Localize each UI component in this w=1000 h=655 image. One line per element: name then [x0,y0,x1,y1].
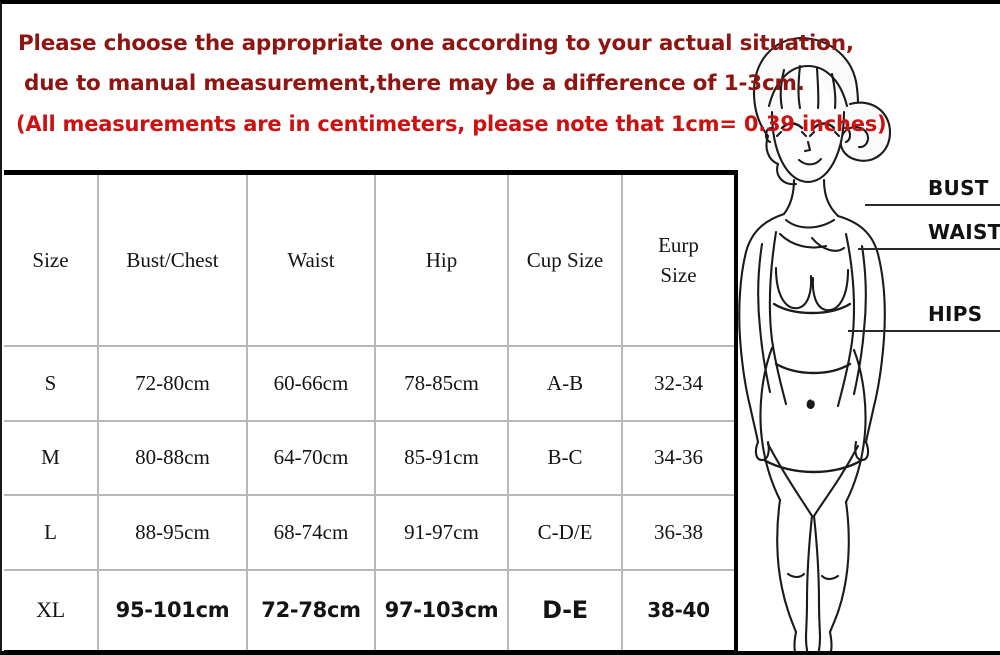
cell-cup: C-D/E [508,495,622,570]
header-eurp-line1: Eurp [623,230,734,260]
cell-eurp: 38-40 [622,570,734,650]
cell-bust: 95-101cm [98,570,247,650]
header-size: Size [4,175,98,346]
cell-size: S [4,346,98,421]
cell-hip: 85-91cm [375,421,508,496]
table-header-row: Size Bust/Chest Waist Hip Cup Size Eurp … [4,175,734,346]
cell-cup: D-E [508,570,622,650]
header-eurp-size: Eurp Size [622,175,734,346]
header-cup: Cup Size [508,175,622,346]
cell-waist: 64-70cm [247,421,375,496]
notice-line-1: Please choose the appropriate one accord… [14,24,862,64]
table-row: M 80-88cm 64-70cm 85-91cm B-C 34-36 [4,421,734,496]
size-chart-image: Please choose the appropriate one accord… [0,0,1000,655]
notice-line-3: (All measurements are in centimeters, pl… [14,104,862,144]
cell-size: L [4,495,98,570]
cell-cup: B-C [508,421,622,496]
cell-hip: 91-97cm [375,495,508,570]
table-row: XL 95-101cm 72-78cm 97-103cm D-E 38-40 [4,570,734,650]
size-table: Size Bust/Chest Waist Hip Cup Size Eurp … [4,175,734,650]
cell-cup: A-B [508,346,622,421]
cell-waist: 60-66cm [247,346,375,421]
cell-eurp: 36-38 [622,495,734,570]
cell-size: XL [4,570,98,650]
cell-bust: 80-88cm [98,421,247,496]
notice-line-2: due to manual measurement,there may be a… [14,64,862,104]
header-waist: Waist [247,175,375,346]
cell-eurp: 32-34 [622,346,734,421]
header-eurp-line2: Size [623,260,734,290]
cell-bust: 72-80cm [98,346,247,421]
size-table-container: Size Bust/Chest Waist Hip Cup Size Eurp … [4,170,738,655]
cell-hip: 78-85cm [375,346,508,421]
cell-eurp: 34-36 [622,421,734,496]
cell-waist: 72-78cm [247,570,375,650]
notice-block: Please choose the appropriate one accord… [2,8,862,163]
cell-waist: 68-74cm [247,495,375,570]
cell-hip: 97-103cm [375,570,508,650]
table-row: S 72-80cm 60-66cm 78-85cm A-B 32-34 [4,346,734,421]
table-row: L 88-95cm 68-74cm 91-97cm C-D/E 36-38 [4,495,734,570]
header-hip: Hip [375,175,508,346]
cell-bust: 88-95cm [98,495,247,570]
cell-size: M [4,421,98,496]
header-bust: Bust/Chest [98,175,247,346]
